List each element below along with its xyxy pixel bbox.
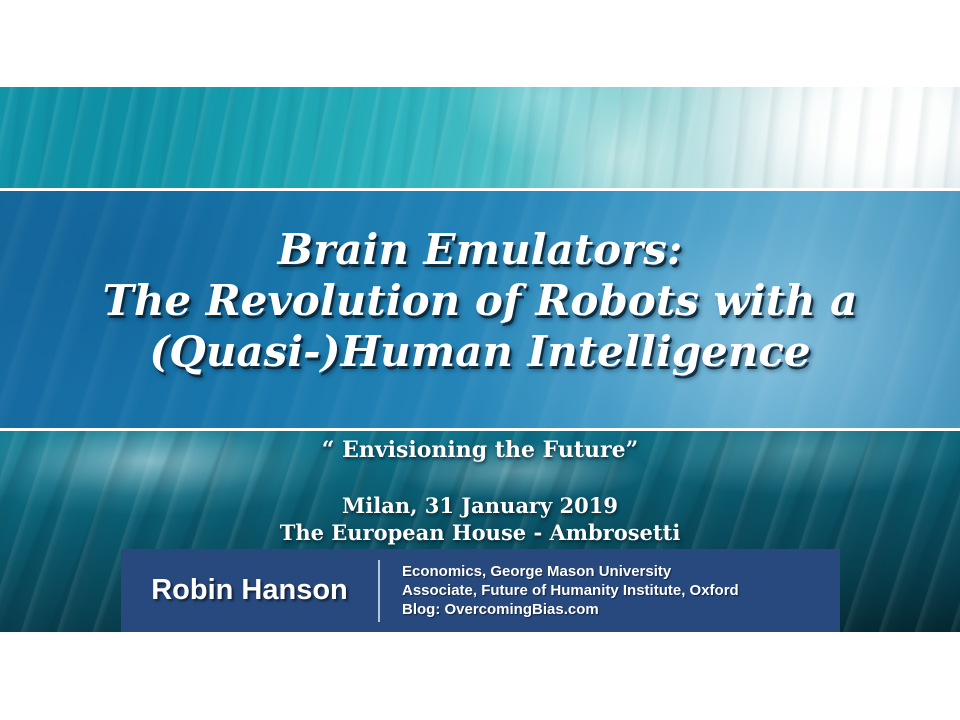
credential-affiliation: Economics, George Mason University [402,562,840,581]
event-theme-quote: “ Envisioning the Future” [0,437,960,463]
event-location-date: Milan, 31 January 2019 [0,492,960,519]
divider-line-top [0,188,960,191]
speaker-credentials: Economics, George Mason University Assoc… [380,562,840,619]
speaker-name: Robin Hanson [121,574,378,607]
divider-line-middle [0,428,960,431]
credential-blog: Blog: OvercomingBias.com [402,600,840,619]
page-title: Brain Emulators: The Revolution of Robot… [0,224,960,377]
title-line-3: (Quasi-)Human Intelligence [0,326,960,377]
title-slide: Brain Emulators: The Revolution of Robot… [0,0,960,720]
credential-associate: Associate, Future of Humanity Institute,… [402,581,840,600]
speaker-bar: Robin Hanson Economics, George Mason Uni… [121,549,840,632]
event-host: The European House - Ambrosetti [0,519,960,546]
title-line-1: Brain Emulators: [0,224,960,275]
event-details: Milan, 31 January 2019 The European Hous… [0,492,960,546]
speaker-divider-line [378,560,380,622]
wave-crest-band [0,87,960,189]
title-line-2: The Revolution of Robots with a [0,275,960,326]
